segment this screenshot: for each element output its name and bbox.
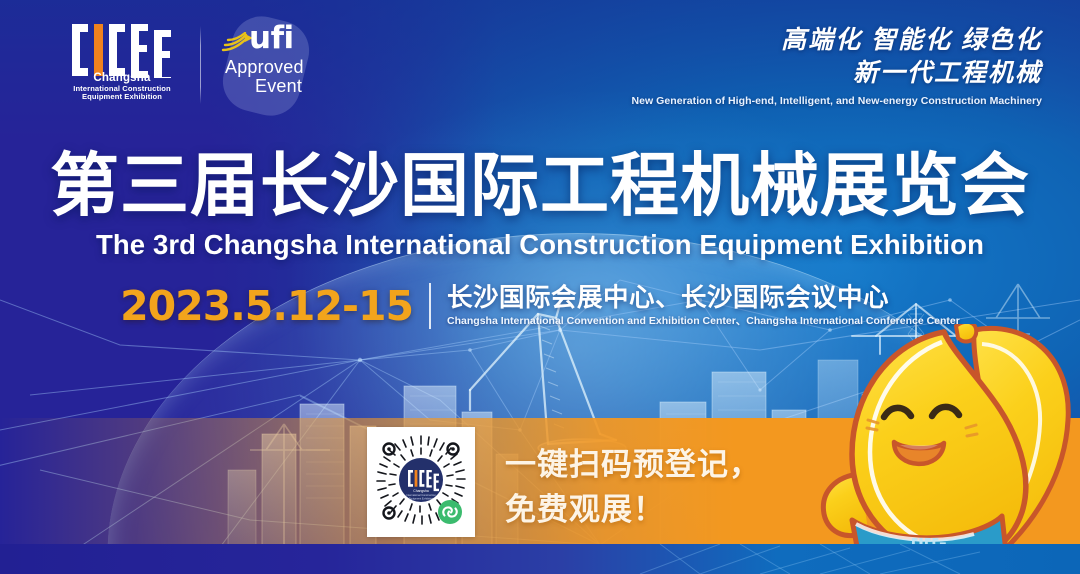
mascot-character <box>816 324 1080 574</box>
event-venue-block: 长沙国际会展中心、长沙国际会议中心 Changsha International… <box>447 284 960 328</box>
cicee-promo-banner: Changsha International Construction Equi… <box>0 0 1080 574</box>
cta-line2: 免费观展！ <box>505 488 761 533</box>
svg-text:Equipment Exhibition: Equipment Exhibition <box>409 497 434 501</box>
event-info-bar: 2023.5.12-15 长沙国际会展中心、长沙国际会议中心 Changsha … <box>0 283 1080 329</box>
slogan-line1: 高端化 智能化 绿色化 <box>631 24 1042 57</box>
cta-line1: 一键扫码预登记， <box>505 443 761 488</box>
cta-message: 一键扫码预登记， 免费观展！ <box>505 443 761 533</box>
qr-code[interactable]: Changsha International Construction Equi… <box>367 427 475 537</box>
title-chinese: 第三届长沙国际工程机械展览会 <box>0 152 1080 221</box>
bottom-strip <box>0 544 1080 574</box>
main-title-block: 第三届长沙国际工程机械展览会 The 3rd Changsha Internat… <box>0 152 1080 261</box>
slogan-line2: 新一代工程机械 <box>631 57 1042 90</box>
wechat-miniprogram-qr-icon: Changsha International Construction Equi… <box>367 427 475 537</box>
ufi-approved-label: Approved <box>225 58 327 77</box>
svg-text:International Construction: International Construction <box>406 493 436 497</box>
cicee-subtitle-line1: Changsha <box>70 72 174 85</box>
ufi-event-label: Event <box>255 77 327 96</box>
venue-chinese: 长沙国际会展中心、长沙国际会议中心 <box>447 284 960 313</box>
cicee-subtitle-line3: Equipment Exhibition <box>70 93 174 102</box>
cicee-mascot-icon <box>816 324 1080 574</box>
slogan-block: 高端化 智能化 绿色化 新一代工程机械 New Generation of Hi… <box>631 24 1042 107</box>
ufi-approved-event-logo[interactable]: ufi Approved Event <box>221 22 327 110</box>
cicee-logo-subtitle: Changsha International Construction Equi… <box>70 72 174 102</box>
bottom-strip-lines <box>0 544 1080 574</box>
ufi-wordmark: ufi <box>249 20 294 56</box>
cicee-wordmark-icon <box>70 22 182 78</box>
slogan-english: New Generation of High-end, Intelligent,… <box>631 95 1042 107</box>
svg-text:Changsha: Changsha <box>413 489 429 493</box>
event-date: 2023.5.12-15 <box>120 286 413 327</box>
event-info-divider <box>429 283 431 329</box>
title-english: The 3rd Changsha International Construct… <box>0 229 1080 261</box>
header-logo-group: Changsha International Construction Equi… <box>70 22 327 110</box>
cicee-logo[interactable]: Changsha International Construction Equi… <box>70 22 182 108</box>
logo-divider <box>200 26 201 104</box>
